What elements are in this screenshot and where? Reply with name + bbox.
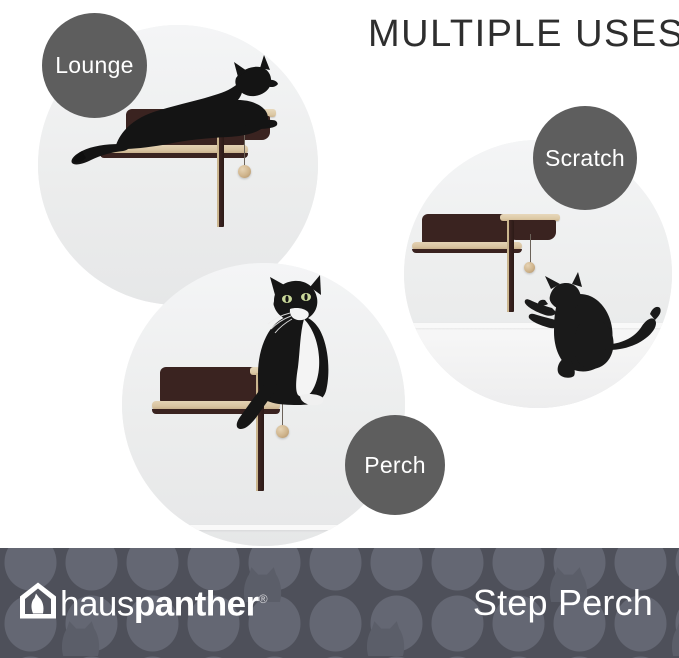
brand-name-suffix: panther bbox=[134, 585, 259, 624]
cat-perching bbox=[234, 275, 374, 435]
cat-scratching bbox=[512, 258, 672, 388]
shelf-upper-box bbox=[508, 220, 556, 240]
badge-lounge-label: Lounge bbox=[55, 52, 134, 79]
shelf-post-edge bbox=[507, 220, 509, 312]
brand-name: hauspanther® bbox=[60, 587, 267, 622]
badge-lounge[interactable]: Lounge bbox=[42, 13, 147, 118]
marketing-image-canvas: MULTIPLE USES bbox=[0, 0, 679, 658]
product-name: Step Perch bbox=[473, 585, 653, 621]
badge-scratch[interactable]: Scratch bbox=[533, 106, 637, 210]
badge-perch[interactable]: Perch bbox=[345, 415, 445, 515]
brand-name-prefix: haus bbox=[60, 585, 134, 624]
registered-trademark-icon: ® bbox=[259, 592, 267, 606]
badge-perch-label: Perch bbox=[364, 452, 426, 479]
house-cat-logo-icon bbox=[18, 581, 58, 626]
footer-bar: hauspanther® Step Perch bbox=[0, 548, 679, 658]
badge-scratch-label: Scratch bbox=[545, 145, 625, 172]
page-title: MULTIPLE USES bbox=[368, 15, 668, 53]
brand-logo[interactable]: hauspanther® bbox=[18, 581, 267, 626]
shelf-lower-deck-edge bbox=[412, 249, 522, 253]
shelf-back-panel bbox=[422, 214, 510, 244]
